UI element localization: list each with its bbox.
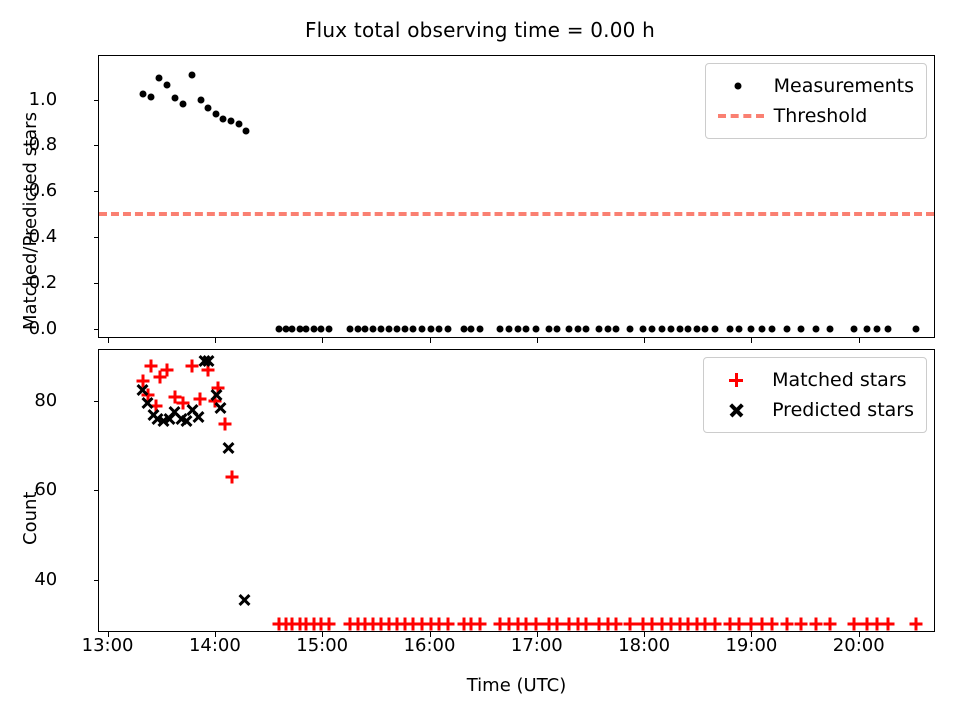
data-point-dot <box>545 325 552 332</box>
data-point-dot <box>179 101 186 108</box>
data-point-dot <box>147 93 154 100</box>
data-point-dot <box>235 121 242 128</box>
data-point-dot <box>436 325 443 332</box>
data-point-x <box>221 442 234 455</box>
legend-item-predicted-stars[interactable]: Predicted stars <box>714 395 914 425</box>
y-axis-tick <box>94 237 100 238</box>
x-axis-tick <box>322 337 323 343</box>
y-axis-tick <box>94 490 100 491</box>
x-axis-tick <box>430 337 431 343</box>
data-point-x <box>191 410 204 423</box>
x-axis-label: Time (UTC) <box>98 675 935 696</box>
data-point-dot <box>220 116 227 123</box>
data-point-dot <box>783 325 790 332</box>
data-point-dot <box>667 325 674 332</box>
data-point-dot <box>172 95 179 102</box>
data-point-plus <box>529 618 542 631</box>
x-axis-tick-label: 18:00 <box>618 637 670 655</box>
data-point-dot <box>685 325 692 332</box>
data-point-dot <box>139 90 146 97</box>
data-point-dot <box>205 104 212 111</box>
data-point-dot <box>289 325 296 332</box>
ratio-panel-axes: 0.00.20.40.60.81.0 Measurements Threshol… <box>98 55 935 338</box>
x-axis-tick <box>108 337 109 343</box>
data-point-plus <box>823 618 836 631</box>
data-point-dot <box>303 325 310 332</box>
legend-item-measurements[interactable]: Measurements <box>716 71 914 101</box>
data-point-dot <box>532 325 539 332</box>
data-point-dot <box>505 325 512 332</box>
data-point-dot <box>497 325 504 332</box>
data-point-dot <box>394 325 401 332</box>
threshold-line <box>99 212 934 216</box>
data-point-dot <box>444 325 451 332</box>
data-point-dot <box>385 325 392 332</box>
data-point-dot <box>702 325 709 332</box>
data-point-dot <box>318 325 325 332</box>
x-axis-tick-label: 13:00 <box>82 637 134 655</box>
data-point-dot <box>378 325 385 332</box>
y-axis-tick <box>94 191 100 192</box>
data-point-dot <box>401 325 408 332</box>
count-panel-legend[interactable]: Matched stars Predicted stars <box>703 357 927 433</box>
data-point-x <box>202 355 215 368</box>
x-axis-tick <box>644 337 645 343</box>
y-axis-tick <box>94 401 100 402</box>
x-marker-icon <box>714 398 766 422</box>
data-point-dot <box>325 325 332 332</box>
data-point-dot <box>227 118 234 125</box>
y-axis-tick <box>94 580 100 581</box>
data-point-dot <box>427 325 434 332</box>
data-point-dot <box>369 325 376 332</box>
data-point-plus <box>881 618 894 631</box>
data-point-dot <box>583 325 590 332</box>
data-point-dot <box>676 325 683 332</box>
x-axis-tick-label: 15:00 <box>296 637 348 655</box>
figure-canvas: Flux total observing time = 0.00 h 0.00.… <box>0 0 960 720</box>
data-point-dot <box>243 128 250 135</box>
data-point-plus <box>226 471 239 484</box>
count-panel-axes: 406080 13:0014:0015:0016:0017:0018:0019:… <box>98 349 935 632</box>
data-point-dot <box>748 325 755 332</box>
data-point-dot <box>574 325 581 332</box>
data-point-dot <box>884 325 891 332</box>
data-point-plus <box>160 364 173 377</box>
chart-title: Flux total observing time = 0.00 h <box>0 18 960 42</box>
data-point-plus <box>218 417 231 430</box>
data-point-dot <box>812 325 819 332</box>
x-axis-tick-label: 17:00 <box>511 637 563 655</box>
data-point-plus <box>322 618 335 631</box>
y-axis-tick-label: 40 <box>34 571 57 589</box>
x-axis-tick <box>537 337 538 343</box>
data-point-dot <box>711 325 718 332</box>
data-point-plus <box>580 618 593 631</box>
data-point-plus <box>624 618 637 631</box>
data-point-dot <box>659 325 666 332</box>
data-point-dot <box>554 325 561 332</box>
data-point-dot <box>410 325 417 332</box>
data-point-dot <box>514 325 521 332</box>
x-axis-tick-label: 16:00 <box>404 637 456 655</box>
data-point-x <box>237 593 250 606</box>
dashed-line-icon <box>716 104 768 128</box>
data-point-plus <box>780 618 793 631</box>
data-point-dot <box>693 325 700 332</box>
data-point-x <box>209 388 222 401</box>
x-axis-tick <box>751 337 752 343</box>
data-point-dot <box>640 325 647 332</box>
data-point-dot <box>354 325 361 332</box>
data-point-dot <box>362 325 369 332</box>
legend-item-threshold[interactable]: Threshold <box>716 101 914 131</box>
dot-marker-icon <box>716 74 768 98</box>
data-point-dot <box>197 96 204 103</box>
x-axis-tick <box>859 337 860 343</box>
data-point-plus <box>809 618 822 631</box>
data-point-dot <box>851 325 858 332</box>
data-point-x <box>135 384 148 397</box>
data-point-dot <box>189 72 196 79</box>
data-point-dot <box>726 325 733 332</box>
y-axis-tick-label: 80 <box>34 392 57 410</box>
data-point-dot <box>468 325 475 332</box>
data-point-dot <box>347 325 354 332</box>
data-point-plus <box>610 618 623 631</box>
data-point-plus <box>848 618 861 631</box>
plus-marker-icon <box>714 368 766 392</box>
data-point-plus <box>765 618 778 631</box>
data-point-dot <box>873 325 880 332</box>
y-axis-tick <box>94 145 100 146</box>
data-point-dot <box>460 325 467 332</box>
legend-label-matched-stars: Matched stars <box>766 369 906 391</box>
x-axis-tick-label: 14:00 <box>189 637 241 655</box>
data-point-dot <box>310 325 317 332</box>
x-axis-tick-label: 20:00 <box>833 637 885 655</box>
data-point-dot <box>759 325 766 332</box>
legend-label-predicted-stars: Predicted stars <box>766 399 914 421</box>
data-point-plus <box>473 618 486 631</box>
data-point-dot <box>826 325 833 332</box>
count-panel-y-axis-label: Count <box>22 492 40 545</box>
data-point-dot <box>418 325 425 332</box>
data-point-dot <box>797 325 804 332</box>
legend-item-matched-stars[interactable]: Matched stars <box>714 365 914 395</box>
data-point-dot <box>566 325 573 332</box>
x-axis-tick <box>215 337 216 343</box>
legend-label-threshold: Threshold <box>768 105 868 127</box>
data-point-x <box>214 401 227 414</box>
data-point-plus <box>441 618 454 631</box>
y-axis-tick <box>94 283 100 284</box>
data-point-plus <box>794 618 807 631</box>
data-point-dot <box>648 325 655 332</box>
data-point-dot <box>156 74 163 81</box>
data-point-dot <box>735 325 742 332</box>
data-point-dot <box>163 82 170 89</box>
data-point-plus <box>909 618 922 631</box>
data-point-dot <box>768 325 775 332</box>
x-axis-tick-label: 19:00 <box>725 637 777 655</box>
ratio-panel-legend[interactable]: Measurements Threshold <box>705 63 927 139</box>
legend-label-measurements: Measurements <box>768 75 914 97</box>
y-axis-tick <box>94 100 100 101</box>
data-point-dot <box>604 325 611 332</box>
data-point-dot <box>627 325 634 332</box>
ratio-panel-y-axis-label: Matched/Predicted stars <box>22 112 40 330</box>
data-point-dot <box>523 325 530 332</box>
data-point-dot <box>596 325 603 332</box>
data-point-plus <box>708 618 721 631</box>
data-point-dot <box>476 325 483 332</box>
data-point-dot <box>613 325 620 332</box>
y-axis-tick <box>94 329 100 330</box>
data-point-dot <box>864 325 871 332</box>
data-point-dot <box>212 110 219 117</box>
data-point-dot <box>912 325 919 332</box>
y-axis-tick-label: 1.0 <box>29 91 58 109</box>
data-point-plus <box>732 618 745 631</box>
